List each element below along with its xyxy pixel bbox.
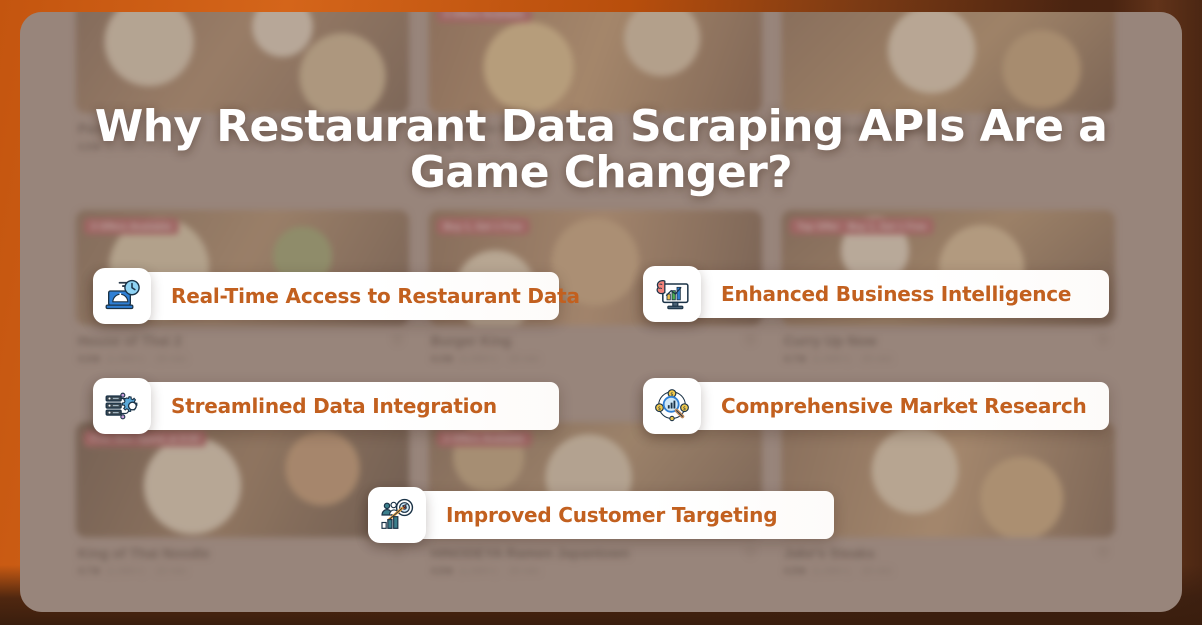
laptop-clock-food-icon <box>93 268 151 324</box>
brain-chart-monitor-icon <box>643 266 701 322</box>
feature-bar: Enhanced Business Intelligence <box>643 270 1109 318</box>
feature-item-real-time-access[interactable]: Real-Time Access to Restaurant Data <box>93 272 559 320</box>
feature-item-market-research[interactable]: Comprehensive Market Research $ $ $ <box>643 382 1109 430</box>
server-gear-icon <box>93 378 151 434</box>
feature-label: Streamlined Data Integration <box>171 394 497 418</box>
svg-text:$: $ <box>658 406 661 412</box>
feature-list: Real-Time Access to Restaurant Data Enha… <box>0 0 1202 625</box>
feature-bar: Real-Time Access to Restaurant Data <box>93 272 559 320</box>
feature-item-business-intelligence[interactable]: Enhanced Business Intelligence <box>643 270 1109 318</box>
feature-label: Comprehensive Market Research <box>721 394 1087 418</box>
svg-text:$: $ <box>683 406 686 412</box>
feature-bar: Improved Customer Targeting <box>368 491 834 539</box>
feature-item-customer-targeting[interactable]: Improved Customer Targeting <box>368 491 834 539</box>
feature-bar: Comprehensive Market Research <box>643 382 1109 430</box>
feature-label: Improved Customer Targeting <box>446 503 777 527</box>
people-target-arrow-icon <box>368 487 426 543</box>
magnifier-coins-chart-icon: $ $ $ <box>643 378 701 434</box>
feature-item-data-integration[interactable]: Streamlined Data Integration <box>93 382 559 430</box>
feature-label: Enhanced Business Intelligence <box>721 282 1071 306</box>
feature-label: Real-Time Access to Restaurant Data <box>171 284 580 308</box>
page-root: Perilla4.8★(1,000+)· 22 min4 Offers Avai… <box>0 0 1202 625</box>
feature-bar: Streamlined Data Integration <box>93 382 559 430</box>
